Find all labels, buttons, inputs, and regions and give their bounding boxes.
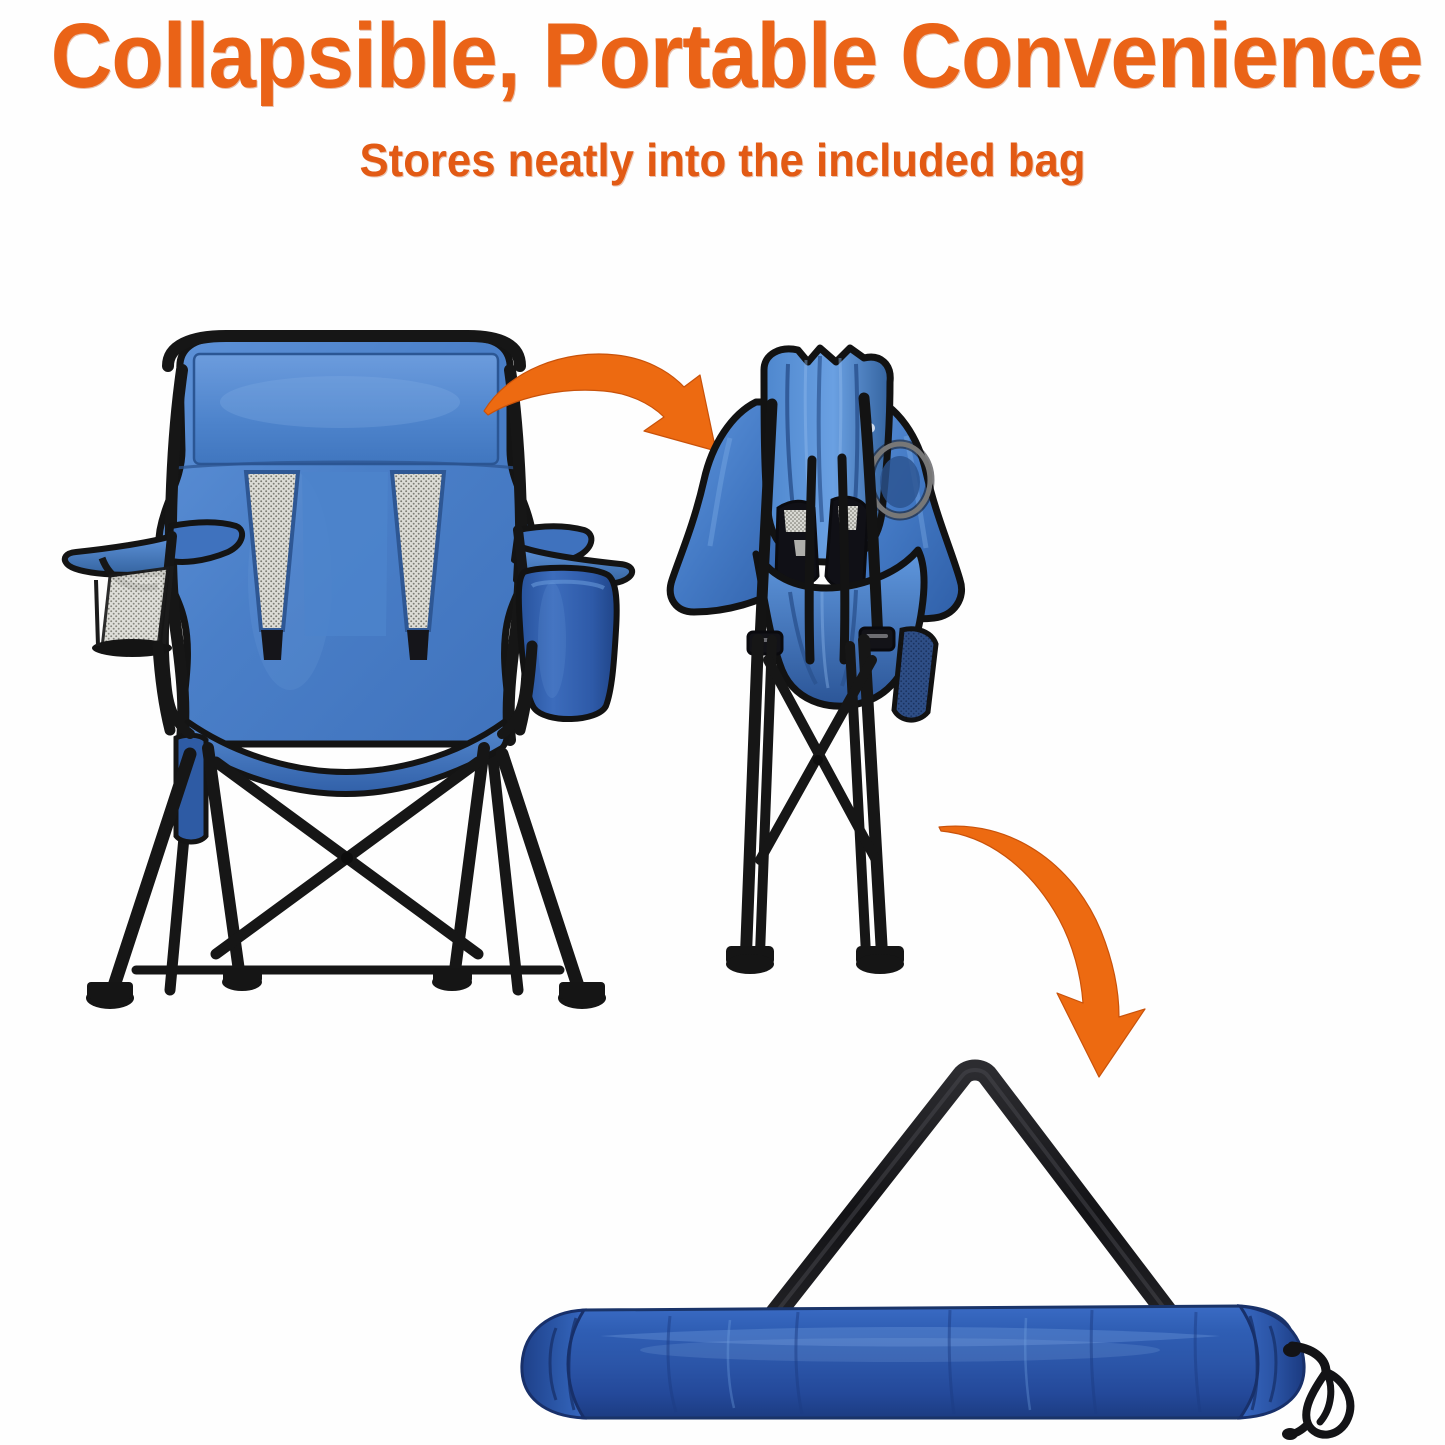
chair-folded-mesh-pocket	[894, 629, 936, 720]
infographic-canvas: Collapsible, Portable Convenience Stores…	[0, 0, 1445, 1445]
chair-open-mesh-panels	[246, 472, 444, 660]
page-subtitle: Stores neatly into the included bag	[36, 133, 1409, 187]
figure-carry-bag	[480, 1020, 1380, 1440]
bag-body	[522, 1306, 1304, 1418]
chair-folded-feet	[726, 946, 904, 974]
page-title: Collapsible, Portable Convenience	[51, 4, 1395, 109]
